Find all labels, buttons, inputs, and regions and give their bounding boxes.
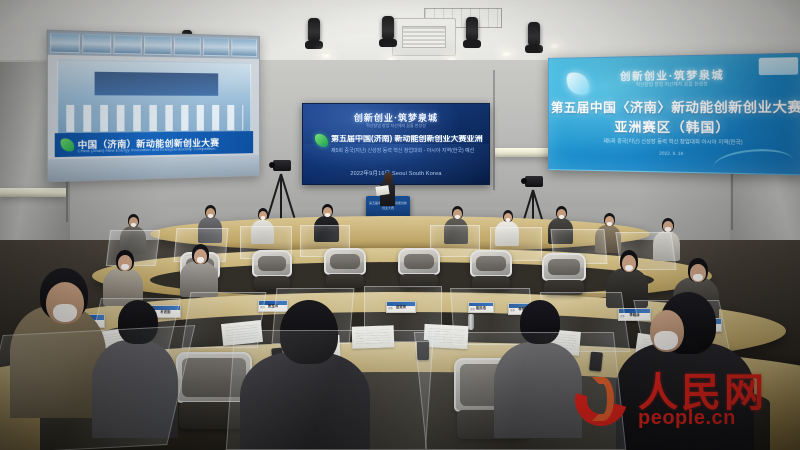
video-camera-icon xyxy=(273,160,291,171)
video-tile xyxy=(203,37,229,56)
banner-glow xyxy=(302,144,490,185)
downlight-icon xyxy=(500,50,513,58)
video-tile xyxy=(50,33,80,53)
acrylic-divider-foreground xyxy=(0,325,195,450)
wall-light-shelf xyxy=(495,148,555,157)
led-title-line-1: 第五届中国〈济南〉新动能创新创业大赛 xyxy=(549,95,800,116)
video-conference-thumbnail-strip xyxy=(48,31,259,59)
downlight-icon xyxy=(548,42,561,50)
track-light-icon xyxy=(528,22,540,48)
led-title-line-2: 亚洲赛区（韩国） xyxy=(549,116,800,137)
speaker-head xyxy=(384,172,393,183)
track-light-icon xyxy=(466,17,478,43)
right-led-screen: 创新创业·筑梦泉城 혁신창업 창업 지선체지 꿈을 천성성 第五届中国〈济南〉新… xyxy=(548,53,800,176)
stage-backdrop-banner: 创新创业·筑梦泉城 혁신창업 창업 지선체지 꿈을 천성성 第五届中国(济南) … xyxy=(302,103,490,185)
wall-seam xyxy=(493,70,495,190)
wall-light-shelf xyxy=(0,188,66,197)
projection-banner-subtext: China (Jinan) New Energy Innovation and … xyxy=(78,146,216,154)
acrylic-divider-foreground xyxy=(226,330,434,450)
stage-banner-calligraphy-sub: 혁신창업 창업 지선체지 꿈을 천성성 xyxy=(303,123,489,129)
video-camera-tripod-left xyxy=(268,160,294,222)
chair xyxy=(470,250,512,292)
video-main-feed xyxy=(57,59,251,137)
video-tile xyxy=(174,37,201,56)
stage-banner-title: 第五届中国(济南) 新动能创新创业大赛亚洲赛区(韩国) xyxy=(331,135,483,144)
video-tile xyxy=(144,36,172,55)
video-tile xyxy=(82,34,111,54)
video-tile xyxy=(231,38,257,57)
chair xyxy=(542,253,586,297)
video-camera-icon xyxy=(525,176,543,187)
competition-logo-icon xyxy=(61,138,75,151)
downlight-icon xyxy=(320,52,333,60)
chair xyxy=(398,248,440,290)
conference-hall-photo: 中国（济南）新动能创新创业大赛 China (Jinan) New Energy… xyxy=(0,0,800,450)
tripod-legs xyxy=(268,174,294,222)
projection-banner: 中国（济南）新动能创新创业大赛 China (Jinan) New Energy… xyxy=(55,131,253,157)
chair xyxy=(324,248,366,290)
left-projection-screen: 中国（济南）新动能创新创业大赛 China (Jinan) New Energy… xyxy=(47,30,260,183)
chair xyxy=(252,250,292,292)
led-subtitle: 제5회 중국(지난) 신성장 동력 혁신 창업대회 아시아 지역(한국) xyxy=(549,137,800,147)
video-tile xyxy=(113,35,141,55)
track-light-icon xyxy=(308,18,320,44)
acrylic-divider-foreground xyxy=(414,332,626,450)
track-light-icon xyxy=(382,16,394,42)
ac-vent-icon xyxy=(392,18,456,56)
speaker-document xyxy=(375,185,389,196)
